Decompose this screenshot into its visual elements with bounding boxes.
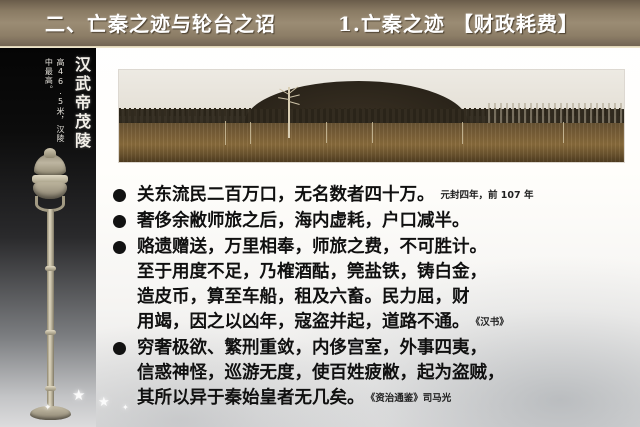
bullet-lines: 奢侈余敝师旅之后，海内虚耗，户口减半。 xyxy=(137,209,640,234)
burner-stem-node xyxy=(45,266,56,271)
header-subsection-title: 1.亡秦之迹 【财政耗费】 xyxy=(338,8,579,37)
bullet-line: 穷奢极欲、繁刑重敛，内侈宫室，外事四夷， xyxy=(137,336,640,361)
bullet-marker-icon xyxy=(113,241,126,254)
burner-stem-node xyxy=(45,386,56,391)
sidebar-panel: 汉武帝茂陵 高46.5米，汉陵中最高。 ★ ✦ xyxy=(0,48,96,427)
burner-lid xyxy=(34,154,66,176)
bullet-citation: 《汉书》 xyxy=(476,317,509,328)
photo-fence-post xyxy=(372,122,373,142)
photo-tree-branch xyxy=(288,101,299,105)
bullet-marker-icon xyxy=(113,342,126,355)
burner-stem-node xyxy=(45,330,56,335)
photo-tree-branch xyxy=(288,86,297,94)
photo-fence-post xyxy=(250,122,251,144)
bullet-line: 关东流民二百万口，无名数者四十万。元封四年，前 107 年 xyxy=(137,183,640,208)
burner-base xyxy=(30,406,71,420)
burner-stem xyxy=(47,209,54,409)
bullet-line: 造皮币，算至车船，租及六畜。民力屈，财 xyxy=(137,285,640,310)
photo-fence-post xyxy=(563,122,564,142)
sidebar-vertical-title: 汉武帝茂陵 xyxy=(72,56,89,151)
slide-header-bar: 二、亡秦之迹与轮台之诏 1.亡秦之迹 【财政耗费】 xyxy=(0,0,640,48)
bullet-line: 其所以异于秦始皇者无几矣。《资治通鉴》司马光 xyxy=(137,386,640,411)
bullet-line: 用竭，因之以凶年，寇盗并起，道路不通。《汉书》 xyxy=(137,310,640,335)
bullet-item: 奢侈余敝师旅之后，海内虚耗，户口减半。 xyxy=(113,209,640,234)
bullet-line-text: 用竭，因之以凶年，寇盗并起，道路不通。 xyxy=(137,312,470,332)
bullet-lines: 穷奢极欲、繁刑重敛，内侈宫室，外事四夷， 信惑神怪，巡游无度，使百姓疲敝，起为盗… xyxy=(137,336,640,411)
sparkle-icon: ★ xyxy=(98,396,110,409)
bullet-line-text: 其所以异于秦始皇者无几矣。 xyxy=(137,388,365,408)
bullet-marker-icon xyxy=(113,215,126,228)
bullet-line: 至于用度不足，乃榷酒酤，筦盐铁，铸白金， xyxy=(137,260,640,285)
bullet-marker-icon xyxy=(113,189,126,202)
bullet-citation: 《资治通鉴》司马光 xyxy=(371,393,452,404)
photo-tree-branch xyxy=(288,94,299,98)
bullet-item: 关东流民二百万口，无名数者四十万。元封四年，前 107 年 xyxy=(113,183,640,208)
presentation-slide: 二、亡秦之迹与轮台之诏 1.亡秦之迹 【财政耗费】 汉武帝茂陵 高46.5米，汉… xyxy=(0,0,640,427)
photo-bare-tree xyxy=(276,87,302,139)
bullet-line: 信惑神怪，巡游无度，使百姓疲敝，起为盗贼， xyxy=(137,361,640,386)
bullet-item: 穷奢极欲、繁刑重敛，内侈宫室，外事四夷， 信惑神怪，巡游无度，使百姓疲敝，起为盗… xyxy=(113,336,640,411)
content-body: 关东流民二百万口，无名数者四十万。元封四年，前 107 年 奢侈余敝师旅之后，海… xyxy=(113,183,640,412)
boshanlu-incense-burner-image xyxy=(22,154,78,426)
photo-fence-post xyxy=(462,122,463,144)
bullet-item: 赂遗赠送，万里相奉，师旅之费，不可胜计。 至于用度不足，乃榷酒酤，筦盐铁，铸白金… xyxy=(113,235,640,335)
maoling-panorama-photo xyxy=(119,70,624,162)
photo-fence-post xyxy=(326,122,327,142)
bullet-citation: 元封四年，前 107 年 xyxy=(441,190,534,201)
sidebar-vertical-subtitle: 高46.5米，汉陵中最高。 xyxy=(43,58,66,150)
header-section-title: 二、亡秦之迹与轮台之诏 xyxy=(45,8,276,37)
bullet-lines: 赂遗赠送，万里相奉，师旅之费，不可胜计。 至于用度不足，乃榷酒酤，筦盐铁，铸白金… xyxy=(137,235,640,335)
bullet-line-text: 关东流民二百万口，无名数者四十万。 xyxy=(137,185,435,205)
bullet-line: 奢侈余敝师旅之后，海内虚耗，户口减半。 xyxy=(137,209,640,234)
photo-right-trees xyxy=(488,103,624,123)
bullet-line: 赂遗赠送，万里相奉，师旅之费，不可胜计。 xyxy=(137,235,640,260)
bullet-lines: 关东流民二百万口，无名数者四十万。元封四年，前 107 年 xyxy=(137,183,640,208)
photo-fence-post xyxy=(225,121,226,145)
